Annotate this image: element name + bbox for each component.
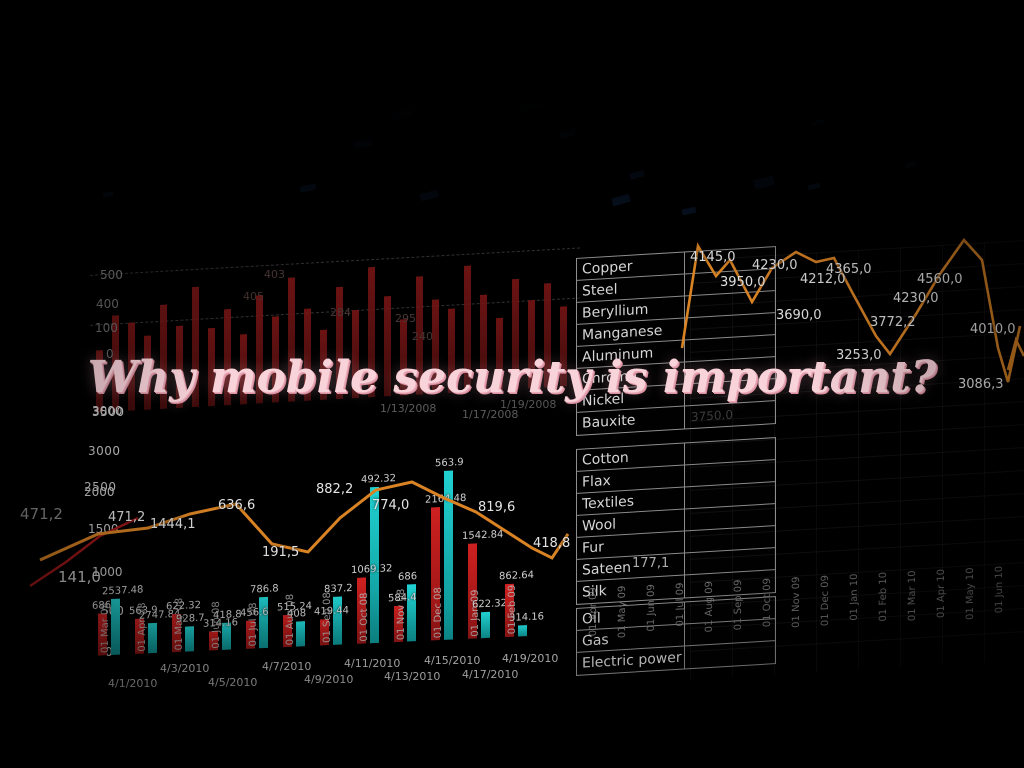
bottom-fade [0,678,1024,768]
confetti-rect [629,170,644,180]
grid-line-h [690,447,1024,468]
grid-line-h [690,470,1024,491]
top-fade [0,0,1024,250]
confetti-rect [611,194,631,207]
right-axis-date: 01 Aug 09 [704,581,715,633]
confetti-rect [587,65,604,77]
bar-value-label: 622.32 [472,598,507,611]
right-axis-date: 01 Jan 10 [849,573,860,621]
confetti-rect [391,108,412,121]
bar-category-label: 01 Oct 08 [359,592,370,642]
bar-cyan [148,623,157,654]
confetti-rect [723,64,753,83]
confetti-rect [433,73,446,82]
grid-line-h [690,424,1024,445]
right-axis-date: 01 Apr 09 [588,587,599,637]
bar-value-label: 314.16 [509,611,544,624]
slide-canvas: 2000 1500 1000 500 0 471,2 141,0 01 Mar … [0,0,1024,768]
bg-3000-label: 3000 [92,404,123,418]
bar-category-label: 01 Sep 08 [322,592,333,643]
bar-cyan [333,596,342,645]
right-axis-date: 01 Jun 09 [646,584,657,632]
right-axis-date: 01 Nov 09 [791,576,802,628]
right-axis-date: 01 May 10 [965,567,976,620]
confetti-rect [300,183,317,192]
confetti-rect [862,55,873,62]
right-axis-date: 01 Feb 10 [878,572,889,622]
bar-cyan [111,599,120,655]
grid-line-h [690,493,1024,514]
right-axis-date: 01 Mar 10 [907,570,918,621]
confetti-rect [682,207,697,216]
right-axis-date: 01 Oct 09 [762,578,773,628]
confetti-rect [471,28,499,46]
confetti-rect [559,128,576,140]
bar-value-label: 456.6 [240,607,269,619]
confetti-rect [103,191,114,198]
right-axis-date: 01 Jul 09 [675,582,686,626]
confetti-rect [753,176,775,190]
confetti-rect [812,118,825,126]
grid-line-h [690,539,1024,560]
grid-line-h [690,516,1024,537]
confetti-rect [419,190,438,201]
right-axis-date: 01 Jun 10 [994,566,1005,614]
right-axis-date: 01 Dec 09 [820,575,831,627]
bar-cyan [185,626,194,651]
right-axis-date: 01 Apr 10 [936,569,947,619]
bar-value-label: 408 [287,608,306,620]
bar-value-label: 686 [92,600,111,612]
bar-cyan [259,596,268,648]
main-trend-line [40,468,570,598]
confetti-rect [353,138,372,149]
bar-value-label: 928.7 [176,613,205,625]
page-title: Why mobile security is important? [0,352,1024,403]
bar-value-label: 418.8 [213,609,242,621]
confetti-rect [905,160,918,168]
bar-cyan [518,625,527,636]
bar-value-label: 622.32 [166,600,201,613]
confetti-rect [519,97,543,113]
confetti-rect [577,60,600,73]
bar-value-label: 419.44 [314,605,349,618]
confetti-rect [808,183,821,191]
right-axis-date: 01 Sep 09 [733,579,744,630]
bar-cyan [481,612,490,638]
right-axis-date: 01 May 09 [617,585,628,638]
bar-cyan [296,621,305,646]
